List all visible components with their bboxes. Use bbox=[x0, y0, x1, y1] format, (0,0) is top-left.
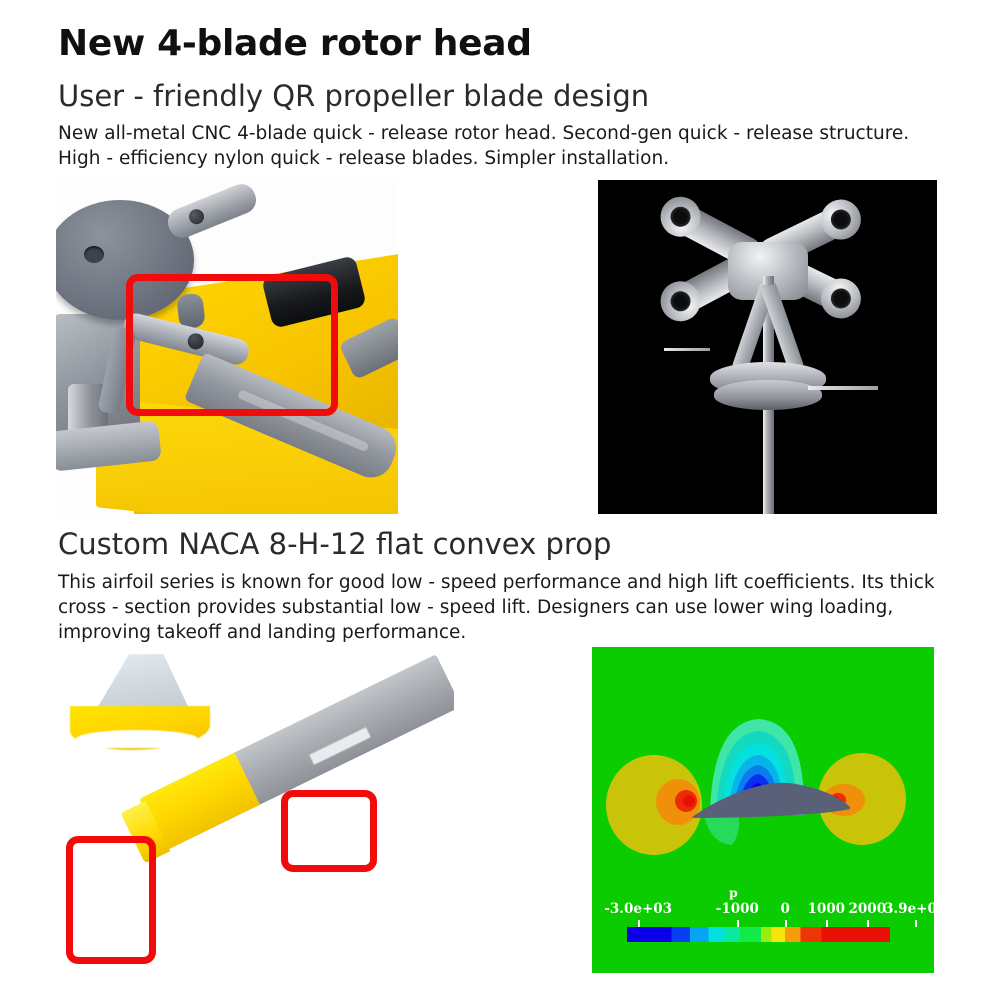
page-title: New 4-blade rotor head bbox=[58, 22, 532, 66]
section-2-subtitle: Custom NACA 8-H-12 flat convex prop bbox=[58, 526, 611, 562]
annotation-box-blade-joint bbox=[281, 790, 377, 872]
colorbar-tick-3: 1000 bbox=[807, 901, 845, 917]
control-pin-right bbox=[808, 386, 878, 390]
section-2-body: This airfoil series is known for good lo… bbox=[58, 570, 948, 645]
rotor-arm-upper bbox=[164, 180, 261, 242]
annotation-box-blade-tip bbox=[66, 836, 156, 964]
photo-rotor-head-yellow-fuselage bbox=[56, 178, 398, 514]
swashplate-lower bbox=[714, 380, 822, 410]
colorbar-legend: p -3.0e+03 -1000 0 1000 2000 3.9e+03 bbox=[592, 887, 934, 949]
section-1-subtitle: User - friendly QR propeller blade desig… bbox=[58, 78, 649, 114]
annotation-box-quick-release bbox=[126, 274, 338, 416]
product-feature-page: New 4-blade rotor head User - friendly Q… bbox=[0, 0, 1000, 1000]
colorbar-tick-5: 3.9e+03 bbox=[884, 901, 934, 917]
control-pin-left bbox=[664, 348, 710, 351]
colorbar-gradient-bar bbox=[627, 927, 890, 942]
blade-grip-cuff bbox=[653, 190, 707, 244]
airfoil-inset-yellow-tip bbox=[70, 706, 210, 750]
colorbar-variable-label: p bbox=[729, 885, 738, 900]
colorbar-tick-4: 2000 bbox=[849, 901, 887, 917]
cfd-pressure-contour-plot: p -3.0e+03 -1000 0 1000 2000 3.9e+03 bbox=[592, 647, 934, 973]
section-1-body: New all-metal CNC 4-blade quick - releas… bbox=[58, 121, 948, 171]
colorbar-tick-labels: -3.0e+03 -1000 0 1000 2000 3.9e+03 bbox=[592, 901, 934, 919]
blade-grip-cuff bbox=[814, 193, 867, 246]
blade-grip-cuff bbox=[653, 274, 707, 328]
colorbar-tick-2: 0 bbox=[781, 901, 790, 917]
colorbar-tick-0: -3.0e+03 bbox=[604, 901, 672, 917]
blade-grip-cuff bbox=[814, 272, 867, 325]
photo-rotor-head-black-bg bbox=[598, 180, 937, 514]
colorbar-tick-1: -1000 bbox=[716, 901, 759, 917]
photo-propeller-blade bbox=[56, 648, 454, 974]
colorbar-tick-marks bbox=[592, 920, 934, 927]
